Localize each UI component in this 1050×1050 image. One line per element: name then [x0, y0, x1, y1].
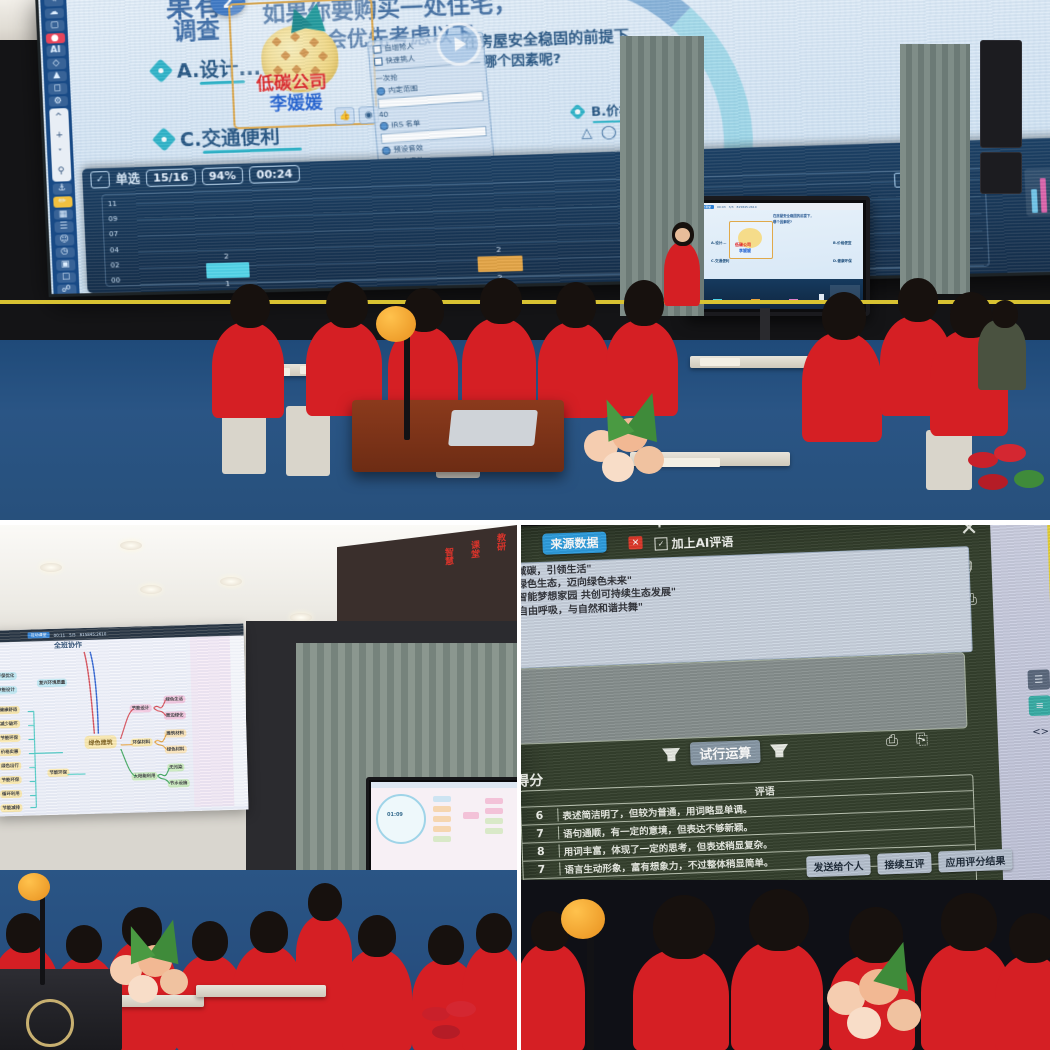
tv-screen: 01:09: [371, 782, 517, 878]
mindmap-node: 环保材料: [131, 738, 153, 747]
timer-value: 00:11: [54, 632, 66, 637]
tv-page: 3/3: [729, 205, 734, 209]
mindmap-node: 环保优化: [0, 672, 16, 681]
desk: [196, 985, 326, 997]
code-icon[interactable]: <>: [1029, 721, 1050, 742]
popup-option-label: 预设音效: [393, 143, 423, 155]
checkbox-icon[interactable]: ✓: [654, 537, 667, 550]
radio-icon[interactable]: [376, 87, 385, 96]
student-head: [822, 292, 866, 340]
mindmap-node: 节水设施: [168, 779, 190, 788]
send-to-individual-button[interactable]: 发送给个人: [806, 854, 871, 877]
mindmap-node: 绿色材料: [165, 745, 187, 754]
mindmap-node: 健康舒适: [0, 706, 19, 715]
mindmap-node: 绿色出行: [0, 762, 21, 771]
row-score: 6: [521, 808, 558, 822]
microphone: [561, 899, 605, 939]
popup-option-label: 一次抢: [375, 73, 398, 85]
mindmap-node: 价格实惠: [0, 748, 21, 757]
gear-icon[interactable]: ⚙: [48, 96, 67, 107]
radio-icon[interactable]: [380, 122, 389, 131]
ytick: 11: [108, 200, 117, 208]
poinsettia: [960, 430, 1050, 520]
mindmap-node: 节能环保: [0, 734, 20, 743]
continue-peer-review-button[interactable]: 接续互评: [877, 852, 932, 875]
popup-option-label: 内定范围: [388, 83, 418, 96]
grid-icon[interactable]: ▦: [53, 209, 72, 220]
brush-icon[interactable]: ✎: [44, 0, 63, 6]
status-tag: 互动课堂: [28, 632, 50, 639]
chart-x-tick: 1: [225, 280, 230, 288]
delete-button[interactable]: ✕: [628, 536, 642, 550]
copy-icon[interactable]: ⎙: [886, 731, 899, 749]
ceiling-light: [40, 563, 62, 572]
paper: [700, 358, 740, 366]
mindmap-node: 节能环保: [47, 768, 69, 777]
chart-elapsed: 00:24: [249, 165, 300, 184]
photo-collage: ✎ ☁ ▢ ● AI ◇ ▲ ◻ ⚙ ^ + ˅ ⚲ ⚓ ✏ ▦ ☰ ☺: [0, 0, 1050, 1050]
row-score: 7: [523, 862, 560, 876]
chart-bar: [477, 256, 523, 273]
flower-arrangement: [106, 921, 202, 1005]
mindmap-node: 建筑材料: [164, 729, 186, 738]
mindmap-node: 节能环保: [0, 776, 21, 785]
mindmap-title: 全班协作: [54, 640, 82, 651]
mindmap-node: 无污染: [167, 763, 184, 771]
mindmap-node: 绿色生活: [163, 695, 185, 704]
result-preview-box[interactable]: [521, 652, 968, 744]
ai-comment-label: 加上AI评语: [671, 533, 733, 552]
popup-option-label: 快速挑人: [385, 54, 415, 67]
presenter-face: [675, 228, 690, 242]
slide-title-line2: 调查: [172, 10, 221, 46]
cloud-icon[interactable]: ☁: [44, 8, 63, 19]
chart-header: ✓ 单选 15/16 94% 00:24: [90, 165, 300, 189]
score-header: 得分: [521, 770, 544, 791]
chart-bar-value: 2: [224, 252, 229, 260]
list-icon[interactable]: ☰: [54, 222, 73, 233]
radio-icon[interactable]: [382, 146, 391, 155]
presenter: [664, 242, 700, 306]
plus-icon[interactable]: +: [50, 128, 70, 146]
chevron-up-icon[interactable]: ^: [49, 110, 69, 128]
stage-stripe: [0, 300, 1050, 304]
popup-value: 40: [379, 110, 389, 119]
mini-chart-thumbnails[interactable]: [1024, 166, 1050, 217]
row-score: 7: [522, 826, 559, 840]
shapes-icon[interactable]: ▲: [47, 71, 66, 82]
picture-icon[interactable]: ☐: [56, 272, 75, 283]
microphone: [18, 873, 50, 901]
student-avatar-card[interactable]: 低碳公司 李媛媛 👍 ◉: [228, 0, 378, 129]
student-head: [749, 889, 809, 951]
mindmap-side-pane: [190, 636, 235, 807]
checkbox-icon[interactable]: [374, 57, 383, 66]
source-data-label: 来源数据: [542, 531, 607, 554]
tv-option-d: D.健康环保: [833, 259, 852, 264]
classroom-mindmap-photo: 教研 课堂 智慧 互动课堂 00:11 5/5 815845:2610 全班协作…: [0, 525, 517, 1050]
student-head: [358, 915, 396, 957]
list-icon[interactable]: ≡: [1028, 695, 1050, 716]
mindmap-connectors: [0, 624, 249, 817]
eraser-icon[interactable]: ◇: [46, 58, 65, 69]
flower-arrangement: [576, 396, 686, 492]
delete-icon: ✕: [628, 536, 642, 550]
tv-option-c: C.交通便利: [711, 259, 729, 264]
student: [731, 941, 823, 1050]
search-icon[interactable]: ⚲: [51, 164, 71, 182]
diamond-icon: [152, 127, 176, 151]
student-head: [653, 895, 715, 959]
mindmap-node: 复兴环境质量: [37, 678, 68, 687]
timer-dial-value: 01:09: [387, 812, 403, 818]
ytick: 09: [108, 215, 117, 223]
secondary-display-tv: 01:09: [366, 777, 517, 883]
arrow-down-icon: [662, 748, 680, 762]
mindmap-node: 减少破坏: [0, 720, 20, 729]
mindmap-node: 节能减排: [0, 804, 22, 813]
chart-percent: 94%: [201, 167, 243, 186]
student-head: [480, 278, 522, 324]
student-head: [230, 284, 270, 328]
circle-chart-icon[interactable]: ◯: [600, 125, 617, 141]
apply-score-result-button[interactable]: 应用评分结果: [938, 849, 1013, 873]
student: [521, 943, 585, 1050]
podium-emblem: [26, 999, 74, 1047]
mindmap-node: 循环利用: [0, 790, 22, 799]
mindmap-node: 节能设计: [130, 704, 152, 713]
student-head: [1009, 913, 1050, 963]
speaker: [980, 40, 1022, 148]
image-icon[interactable]: ▣: [56, 260, 75, 271]
mindmap-node: 节能设计: [0, 686, 17, 695]
student-head: [941, 893, 997, 951]
close-icon[interactable]: ✕: [959, 525, 978, 541]
speaker-small: [980, 152, 1022, 194]
technician: [978, 320, 1026, 390]
student: [995, 955, 1050, 1050]
chair: [286, 406, 330, 476]
student: [342, 949, 412, 1050]
mic-stand: [404, 330, 410, 440]
timer-dial: [376, 794, 426, 844]
student-head: [624, 280, 664, 326]
mindmap-center-node: 绿色建筑: [84, 735, 116, 749]
ytick: 02: [110, 261, 119, 269]
zoom-group[interactable]: ^ + ˅ ⚲: [49, 109, 71, 183]
poinsettia: [418, 995, 500, 1050]
chevron-down-icon[interactable]: ˅: [50, 146, 70, 164]
mindmap-node: 太阳能利用: [131, 772, 157, 781]
laptop: [448, 410, 538, 446]
ai-icon[interactable]: AI: [46, 45, 65, 56]
student: [633, 949, 729, 1050]
student: [212, 322, 284, 418]
ceiling-light: [140, 585, 162, 594]
student-head: [326, 282, 368, 328]
palette-icon[interactable]: ●: [45, 33, 64, 44]
student-head: [66, 925, 102, 963]
triangle-chart-icon[interactable]: △: [581, 125, 593, 141]
ytick: 00: [111, 276, 120, 284]
trash-icon[interactable]: ◻: [48, 83, 67, 94]
ceiling-light: [220, 577, 242, 586]
mindmap-led-screen: 互动课堂 00:11 5/5 815845:2610 全班协作 环保优化 节能设…: [0, 624, 249, 817]
student-head: [556, 282, 596, 328]
popup-option-label: 自增抢人: [384, 41, 414, 54]
banner-text: 智慧: [442, 547, 455, 567]
document-icon[interactable]: ☰: [1027, 669, 1050, 690]
source-data-chip[interactable]: 来源数据: [542, 531, 607, 554]
collage-divider-horizontal: [0, 520, 1050, 525]
student: [802, 332, 882, 442]
tv-option-a: A.设计...: [711, 241, 727, 246]
clock-icon[interactable]: ◷: [55, 247, 74, 258]
anchor-icon[interactable]: ⚓: [52, 184, 71, 195]
pencil-icon[interactable]: ✏: [53, 196, 72, 207]
ytick: 07: [109, 230, 118, 238]
check-icon: ✓: [90, 171, 110, 189]
mindmap-node: 周边绿化: [164, 711, 186, 720]
mini-chart[interactable]: [1024, 167, 1050, 216]
collage-divider-vertical: [517, 520, 521, 1050]
student-head: [6, 913, 44, 953]
diamond-icon: [149, 59, 173, 83]
tv-student-name: 李媛媛: [739, 248, 751, 254]
microphone: [376, 306, 416, 342]
tv-timer: 00:03: [717, 205, 726, 209]
ceiling-light: [120, 541, 142, 550]
run-button[interactable]: 试行运算: [690, 740, 761, 766]
source-text-box[interactable]: 减碳，引领生活" 绿色生态，迈向绿色未来" 智能梦想家园 共创可持续生态发展" …: [521, 546, 973, 669]
ai-comment-toggle[interactable]: ✓ 加上AI评语: [654, 533, 733, 553]
add-icon[interactable]: +: [651, 525, 667, 533]
stamp-icon[interactable]: ▢: [45, 20, 64, 31]
led-wall-display: ✎ ☁ ▢ ● AI ◇ ▲ ◻ ⚙ ^ + ˅ ⚲ ⚓ ✏ ▦ ☰ ☺: [38, 0, 1050, 294]
ai-scoring-dialog-photo: ☰ ≡ <> ≡ + 来源数据 ✕ ✓ 加上AI评语 ✕ ✎ ⎙: [521, 525, 1050, 1050]
tv-question-line: 哪个因素呢?: [773, 219, 792, 224]
tv-option-b: B.价格便宜: [833, 241, 851, 246]
tv-code: 815845:2610: [737, 205, 757, 209]
tv-avatar-card: 低碳公司 李媛媛: [729, 221, 773, 259]
mic-stand: [40, 893, 45, 985]
chart-bar: [206, 262, 250, 278]
banner-text: 教研: [494, 532, 507, 552]
row-score: 8: [523, 844, 560, 858]
chart-bar-value: 2: [496, 246, 501, 254]
paste-icon[interactable]: ⎘: [916, 730, 929, 748]
page-value: 5/5: [69, 632, 76, 637]
run-row: 试行运算: [662, 739, 789, 767]
student-head: [428, 925, 464, 965]
play-icon: [454, 37, 466, 52]
projected-dialog-screen: ☰ ≡ <> ≡ + 来源数据 ✕ ✓ 加上AI评语 ✕ ✎ ⎙: [521, 525, 1050, 927]
curtain: [900, 44, 970, 294]
technician-head: [992, 300, 1018, 328]
classroom-wide-photo: ✎ ☁ ▢ ● AI ◇ ▲ ◻ ⚙ ^ + ˅ ⚲ ⚓ ✏ ▦ ☰ ☺: [0, 0, 1050, 520]
teacher-head: [308, 883, 342, 921]
tv-question-line: 在房屋安全稳固的前提下，: [773, 213, 814, 218]
room-code: 815845:2610: [79, 631, 106, 637]
popup-option-label: IRS 名单: [391, 118, 421, 130]
student-head: [476, 913, 512, 953]
chart-correct-ratio: 15/16: [146, 168, 196, 187]
mic-stand: [587, 927, 594, 1050]
student-head: [250, 911, 288, 953]
student-name: 李媛媛: [269, 87, 323, 114]
student-head: [898, 278, 938, 322]
ai-comment-checkbox[interactable]: ✓ 加上AI评语: [654, 533, 733, 553]
user-icon[interactable]: ☺: [54, 234, 73, 245]
export-icon[interactable]: ☍: [57, 285, 77, 294]
banner-text: 课堂: [468, 539, 481, 559]
thumbs-up-icon[interactable]: 👍: [334, 107, 355, 125]
diamond-icon: [569, 104, 586, 120]
ytick: 04: [110, 246, 119, 254]
checkbox-icon[interactable]: [373, 45, 382, 54]
chart-mode-label: 单选: [115, 170, 140, 188]
arrow-down-icon: [770, 744, 788, 758]
flower-arrangement: [821, 941, 937, 1050]
